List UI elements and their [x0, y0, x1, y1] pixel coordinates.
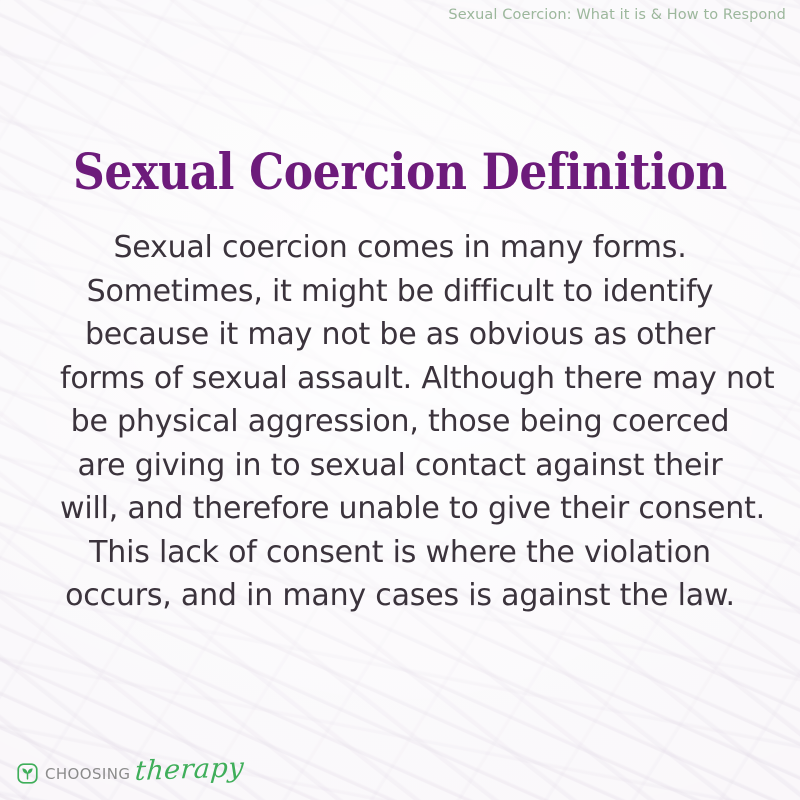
brand-logo: Choosing therapy	[17, 760, 244, 787]
body-line: forms of sexual assault. Although there …	[60, 357, 740, 401]
plant-leaf-icon	[17, 763, 38, 784]
body-line: will, and therefore unable to give their…	[60, 487, 740, 531]
logo-word-therapy: therapy	[134, 752, 245, 787]
body-line: are giving in to sexual contact against …	[60, 444, 740, 488]
body-line: Sexual coercion comes in many forms.	[60, 226, 740, 270]
page-title: Sexual Coercion Definition	[48, 143, 752, 201]
body-paragraph: Sexual coercion comes in many forms. Som…	[60, 226, 740, 618]
infographic-canvas: Sexual Coercion: What it is & How to Res…	[0, 0, 800, 800]
body-line: occurs, and in many cases is against the…	[60, 574, 740, 618]
body-line: This lack of consent is where the violat…	[60, 531, 740, 575]
header-bar: Sexual Coercion: What it is & How to Res…	[0, 0, 786, 30]
logo-word-choosing: Choosing	[45, 765, 130, 783]
header-title: Sexual Coercion: What it is & How to Res…	[448, 7, 786, 23]
body-line: because it may not be as obvious as othe…	[60, 313, 740, 357]
body-line: be physical aggression, those being coer…	[60, 400, 740, 444]
body-line: Sometimes, it might be difficult to iden…	[60, 270, 740, 314]
